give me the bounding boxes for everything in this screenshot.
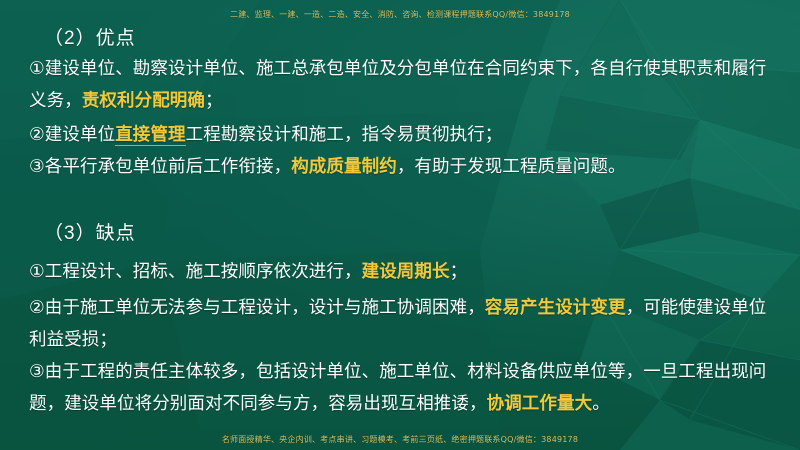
item-highlight: 构成质量制约 bbox=[291, 156, 397, 176]
list-marker: ③ bbox=[29, 156, 45, 176]
item-highlight: 容易产生设计变更 bbox=[485, 297, 626, 317]
section-heading-advantages: （2）优点 bbox=[44, 27, 136, 51]
list-marker: ② bbox=[29, 124, 45, 144]
item-text-after: ； bbox=[205, 90, 223, 110]
list-marker: ② bbox=[29, 297, 45, 317]
item-text-before: 由于工程的责任主体较多，包括设计单位、施工单位、材料设备供应单位等，一旦工程出现… bbox=[29, 361, 766, 413]
item-text-after: ，有助于发现工程质量问题。 bbox=[397, 156, 626, 176]
disadvantage-item-3: ③由于工程的责任主体较多，包括设计单位、施工单位、材料设备供应单位等，一旦工程出… bbox=[29, 355, 774, 419]
advantage-item-3: ③各平行承包单位前后工作衔接，构成质量制约，有助于发现工程质量问题。 bbox=[29, 150, 774, 182]
item-text-after: ； bbox=[450, 261, 468, 281]
item-text-before: 由于施工单位无法参与工程设计，设计与施工协调困难， bbox=[45, 297, 485, 317]
item-text-after: 。 bbox=[592, 393, 610, 413]
advantage-item-2: ②建设单位直接管理工程勘察设计和施工，指令易贯彻执行； bbox=[29, 118, 774, 150]
list-marker: ① bbox=[29, 261, 45, 281]
watermark-bottom: 名师面授精华、央企内训、考点串讲、习题模考、考前三页纸、绝密押题联系QQ/微信：… bbox=[0, 434, 800, 445]
item-highlight: 建设周期长 bbox=[362, 261, 450, 281]
list-marker: ① bbox=[29, 58, 45, 78]
item-highlight: 协调工作量大 bbox=[487, 393, 593, 413]
section-heading-disadvantages: （3）缺点 bbox=[44, 222, 136, 246]
item-highlight: 直接管理 bbox=[115, 124, 185, 146]
item-text-before: 工程设计、招标、施工按顺序依次进行， bbox=[45, 261, 362, 281]
item-highlight: 责权利分配明确 bbox=[82, 90, 205, 110]
advantage-item-1: ①建设单位、勘察设计单位、施工总承包单位及分包单位在合同约束下，各自行使其职责和… bbox=[29, 52, 774, 116]
disadvantage-item-1: ①工程设计、招标、施工按顺序依次进行，建设周期长； bbox=[29, 255, 774, 287]
presentation-slide: 二建、监理、一建、一造、二造、安全、消防、咨询、检测课程押题联系QQ/微信：38… bbox=[0, 0, 800, 450]
item-text-before: 各平行承包单位前后工作衔接， bbox=[45, 156, 291, 176]
slide-content: （2）优点 ①建设单位、勘察设计单位、施工总承包单位及分包单位在合同约束下，各自… bbox=[0, 0, 800, 450]
item-text-before: 建设单位 bbox=[45, 124, 115, 144]
item-text-after: 工程勘察设计和施工，指令易贯彻执行； bbox=[186, 124, 503, 144]
list-marker: ③ bbox=[29, 361, 45, 381]
disadvantage-item-2: ②由于施工单位无法参与工程设计，设计与施工协调困难，容易产生设计变更，可能使建设… bbox=[29, 291, 774, 355]
